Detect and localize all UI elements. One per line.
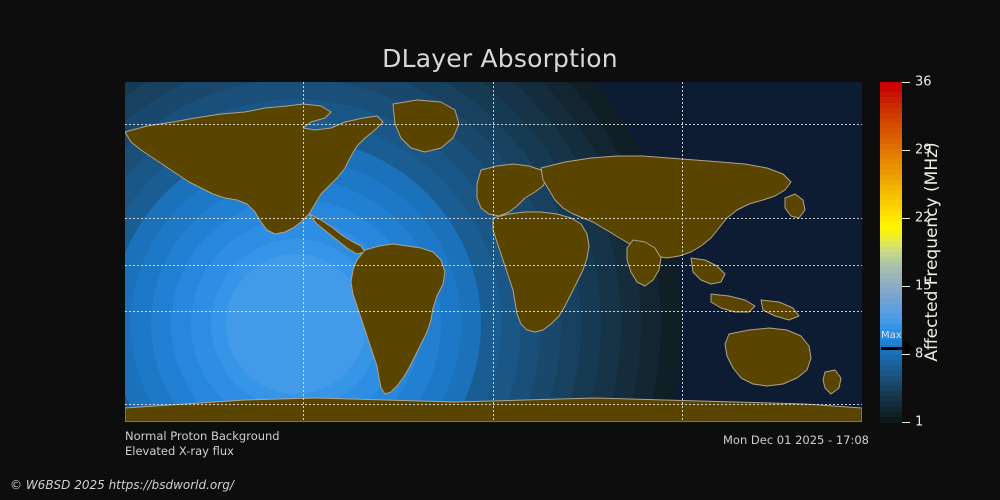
status-captions: Normal Proton Background Elevated X-ray …: [125, 429, 280, 459]
page-title: DLayer Absorption: [0, 44, 1000, 73]
max-arrow-head-icon: [905, 342, 914, 354]
max-arrow-icon: [881, 347, 907, 350]
colorbar-tick: [902, 150, 910, 151]
status-xray-flux: Elevated X-ray flux: [125, 444, 280, 459]
max-marker-label: Max: [881, 330, 902, 341]
affected-frequency-colorbar[interactable]: [880, 82, 902, 422]
colorbar-tick: [902, 218, 910, 219]
colorbar-axis-label: Affected Frequency (MHz): [919, 82, 945, 422]
timestamp: Mon Dec 01 2025 - 17:08: [723, 433, 869, 447]
copyright-footer: © W6BSD 2025 https://bsdworld.org/: [10, 478, 234, 492]
status-proton-background: Normal Proton Background: [125, 429, 280, 444]
colorbar-tick: [902, 422, 910, 423]
max-absorption-marker: Max: [881, 330, 921, 354]
colorbar-tick: [902, 286, 910, 287]
world-absorption-map[interactable]: [125, 82, 862, 422]
colorbar-tick: [902, 82, 910, 83]
continents-layer: [125, 82, 862, 422]
colorbar-band: [880, 417, 902, 423]
colorbar-tick: [902, 354, 910, 355]
